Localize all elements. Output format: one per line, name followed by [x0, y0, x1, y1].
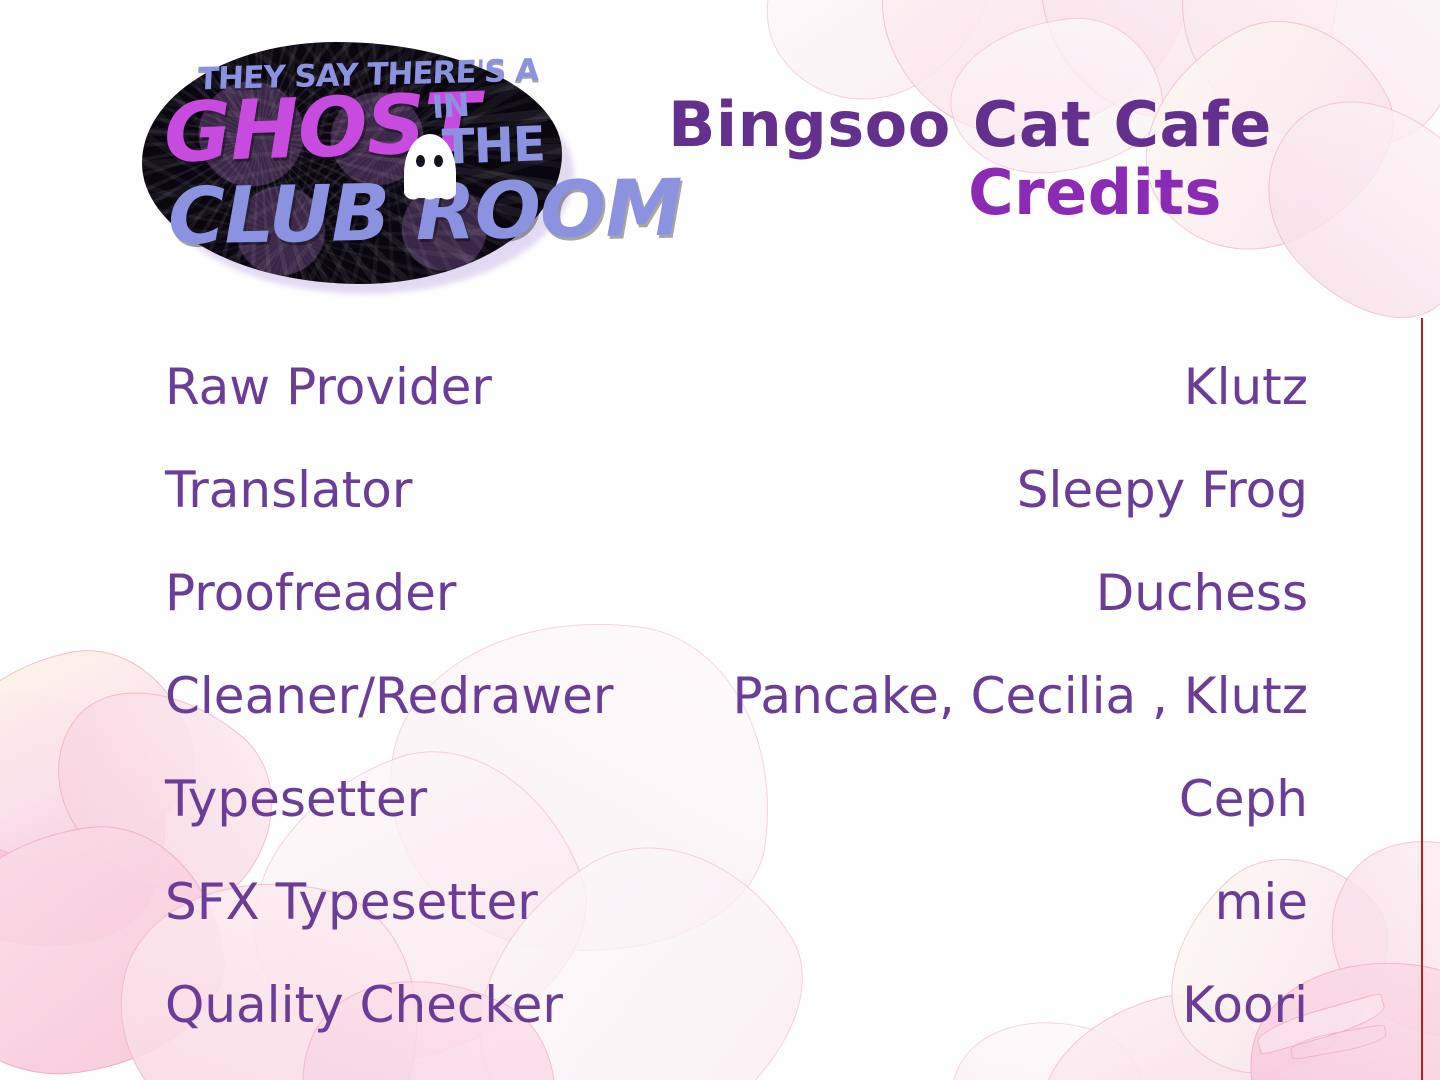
scanlation-group-name: Bingsoo Cat Cafe — [620, 92, 1320, 158]
ghost-eye-right-icon — [434, 155, 443, 167]
credit-name: Sleepy Frog — [1017, 465, 1308, 515]
credit-name: mie — [1215, 877, 1308, 927]
series-logo: THEY SAY THERE'S A GHOST IN THE CLUB ROO… — [142, 42, 582, 302]
credit-row: Typesetter Ceph — [165, 774, 1308, 877]
credit-name: Koori — [1182, 980, 1308, 1030]
credit-role: SFX Typesetter — [165, 877, 538, 927]
credit-name: Pancake, Cecilia , Klutz — [733, 671, 1308, 721]
page-heading: Bingsoo Cat Cafe Credits — [620, 92, 1320, 227]
credit-name: Ceph — [1179, 774, 1308, 824]
petal-bottom-right — [1294, 797, 1440, 1075]
credit-role: Proofreader — [165, 568, 456, 618]
credit-role: Typesetter — [165, 774, 427, 824]
credit-role: Cleaner/Redrawer — [165, 671, 613, 721]
credit-row: SFX Typesetter mie — [165, 877, 1308, 980]
credit-row: Translator Sleepy Frog — [165, 465, 1308, 568]
credit-role: Quality Checker — [165, 980, 563, 1030]
credit-row: Quality Checker Koori — [165, 980, 1308, 1080]
credit-role: Translator — [165, 465, 412, 515]
credits-page: THEY SAY THERE'S A GHOST IN THE CLUB ROO… — [0, 0, 1440, 1080]
credit-row: Proofreader Duchess — [165, 568, 1308, 671]
credit-name: Klutz — [1184, 362, 1308, 412]
logo-word-the: THE — [441, 120, 545, 172]
credit-role: Raw Provider — [165, 362, 492, 412]
right-edge-rule — [1421, 318, 1423, 1080]
credit-row: Cleaner/Redrawer Pancake, Cecilia , Klut… — [165, 671, 1308, 774]
credit-name: Duchess — [1096, 568, 1308, 618]
credits-list: Raw Provider Klutz Translator Sleepy Fro… — [165, 362, 1308, 1080]
credit-row: Raw Provider Klutz — [165, 362, 1308, 465]
page-title: Credits — [620, 158, 1320, 227]
ghost-eye-left-icon — [416, 155, 425, 167]
